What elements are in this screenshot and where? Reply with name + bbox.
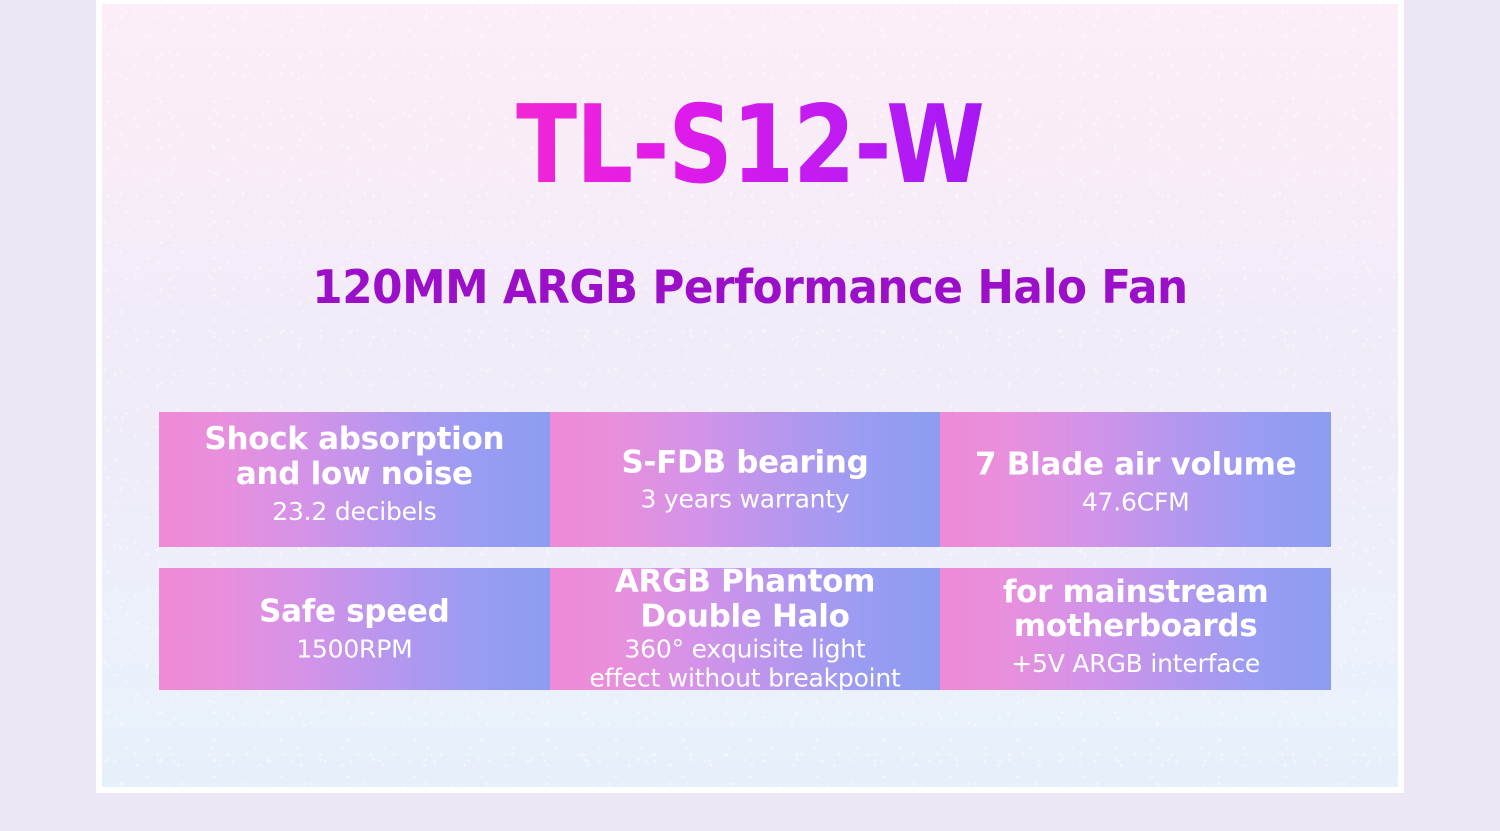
feature-title: ARGB PhantomDouble Halo (556, 565, 935, 634)
product-banner-panel: TL-S12-W 120MM ARGB Performance Halo Fan… (102, 4, 1398, 787)
feature-grid: Shock absorptionand low noise 23.2 decib… (159, 412, 1331, 690)
feature-row-1: Shock absorptionand low noise 23.2 decib… (159, 412, 1331, 547)
feature-subtitle: 47.6CFM (946, 488, 1325, 517)
feature-card-shock-absorption: Shock absorptionand low noise 23.2 decib… (159, 412, 550, 547)
feature-subtitle: 3 years warranty (556, 485, 935, 514)
feature-subtitle: 1500RPM (165, 635, 544, 664)
feature-title: 7 Blade air volume (946, 447, 1325, 482)
feature-title: S-FDB bearing (556, 445, 935, 480)
feature-subtitle: +5V ARGB interface (946, 650, 1325, 679)
product-model-headline: TL-S12-W (154, 92, 1346, 200)
feature-card-argb-halo: ARGB PhantomDouble Halo 360° exquisite l… (550, 568, 941, 690)
feature-card-bearing: S-FDB bearing 3 years warranty (550, 412, 941, 547)
feature-card-motherboard-support: for mainstreammotherboards +5V ARGB inte… (940, 568, 1331, 690)
feature-title: Shock absorptionand low noise (165, 422, 544, 491)
feature-title: for mainstreammotherboards (946, 574, 1325, 643)
feature-subtitle: 23.2 decibels (165, 497, 544, 526)
feature-card-air-volume: 7 Blade air volume 47.6CFM (940, 412, 1331, 547)
feature-title: Safe speed (165, 594, 544, 629)
page-frame: TL-S12-W 120MM ARGB Performance Halo Fan… (96, 0, 1404, 793)
feature-card-safe-speed: Safe speed 1500RPM (159, 568, 550, 690)
feature-subtitle: 360° exquisite lighteffect without break… (556, 636, 935, 694)
product-tagline: 120MM ARGB Performance Halo Fan (134, 262, 1365, 313)
feature-row-2: Safe speed 1500RPM ARGB PhantomDouble Ha… (159, 568, 1331, 690)
